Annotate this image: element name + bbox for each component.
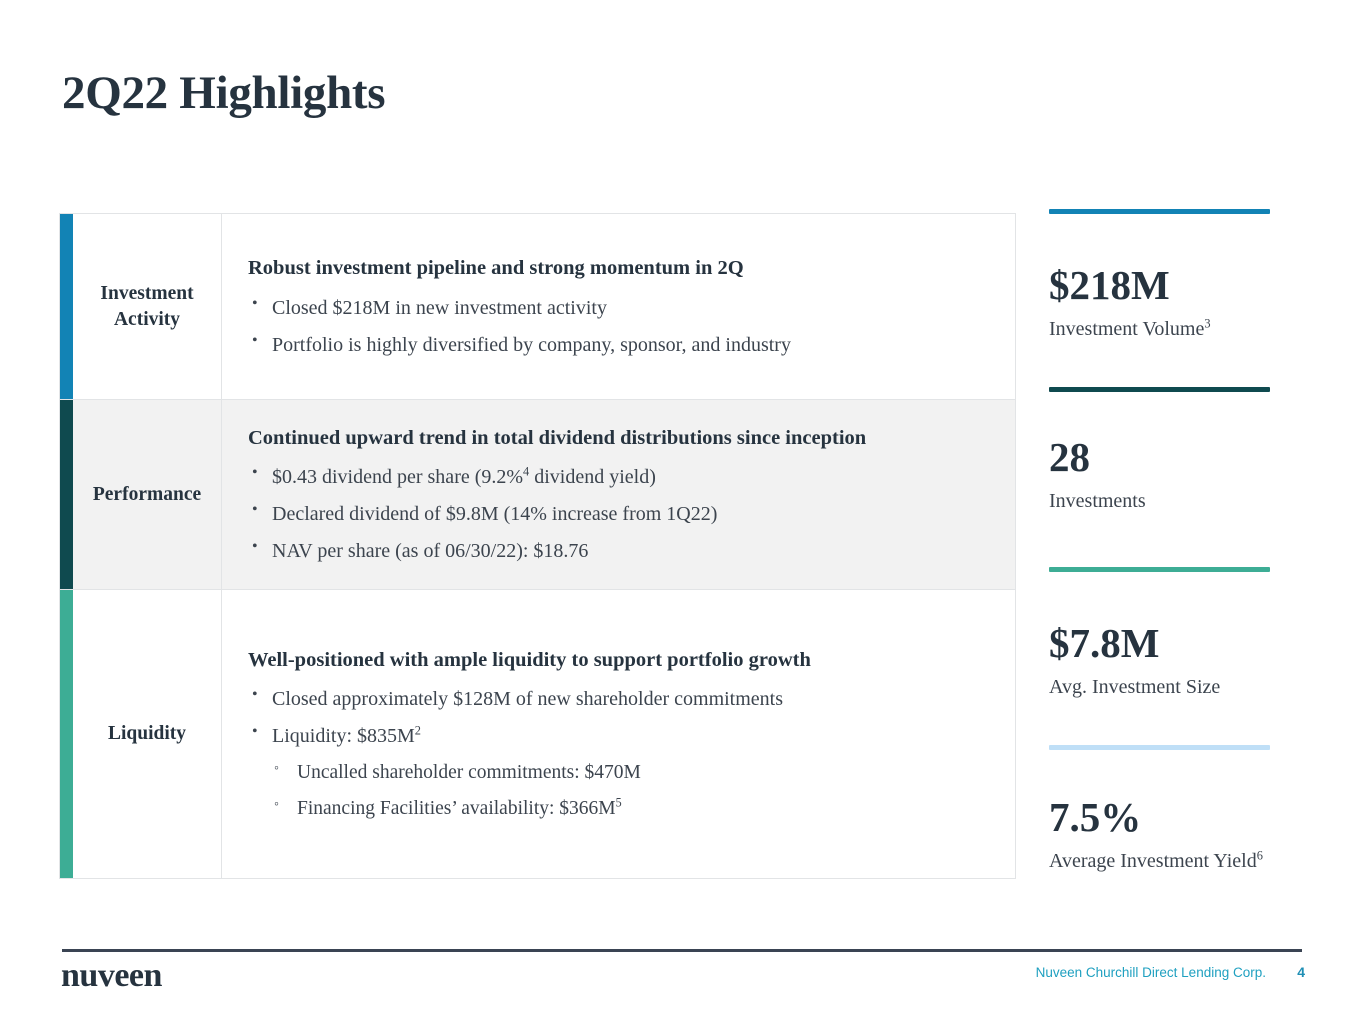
kpi-avg-investment-size: $7.8M Avg. Investment Size: [1049, 567, 1309, 745]
list-item: Financing Facilities’ availability: $366…: [272, 796, 991, 821]
row-accent-bar-investment-activity: [60, 214, 73, 399]
list-item: Declared dividend of $9.8M (14% increase…: [248, 501, 991, 527]
sub-bullet-text: Financing Facilities’ availability: $366…: [297, 798, 616, 819]
bullet-text: Portfolio is highly diversified by compa…: [272, 334, 791, 356]
sub-bullet-list: Uncalled shareholder commitments: $470M …: [272, 760, 991, 822]
page-number: 4: [1297, 964, 1305, 980]
bullet-text: Declared dividend of $9.8M (14% increase…: [272, 503, 717, 525]
kpi-value: $7.8M: [1049, 623, 1309, 664]
kpi-investment-volume: $218M Investment Volume3: [1049, 209, 1309, 387]
list-item: Uncalled shareholder commitments: $470M: [272, 760, 991, 785]
row-heading: Continued upward trend in total dividend…: [248, 425, 948, 451]
row-heading: Well-positioned with ample liquidity to …: [248, 647, 948, 673]
list-item: Liquidity: $835M2 Uncalled shareholder c…: [248, 723, 991, 822]
footnote-marker: 5: [616, 796, 622, 810]
kpi-rule: [1049, 567, 1270, 572]
kpi-label-text: Investments: [1049, 490, 1146, 512]
kpi-panel: $218M Investment Volume3 28 Investments …: [1049, 209, 1309, 873]
kpi-investments: 28 Investments: [1049, 387, 1309, 567]
table-row: Liquidity Well-positioned with ample liq…: [60, 590, 1015, 878]
nuveen-logo: nuveen: [61, 957, 162, 994]
footer-divider: [62, 949, 1302, 952]
list-item: $0.43 dividend per share (9.2%4 dividend…: [248, 464, 991, 490]
kpi-label-text: Average Investment Yield: [1049, 850, 1257, 872]
bullet-text: Closed $218M in new investment activity: [272, 297, 607, 319]
list-item: Closed $218M in new investment activity: [248, 295, 991, 321]
kpi-rule: [1049, 209, 1270, 214]
list-item: Closed approximately $128M of new shareh…: [248, 686, 991, 712]
bullet-text: Closed approximately $128M of new shareh…: [272, 688, 783, 710]
table-row: Investment Activity Robust investment pi…: [60, 214, 1015, 400]
bullet-text: Liquidity: $835M: [272, 725, 415, 747]
kpi-value: 7.5%: [1049, 797, 1309, 838]
row-body-performance: Continued upward trend in total dividend…: [222, 400, 1015, 589]
kpi-rule: [1049, 387, 1270, 392]
kpi-label-text: Investment Volume: [1049, 318, 1204, 340]
kpi-label: Investment Volume3: [1049, 317, 1309, 341]
row-body-investment-activity: Robust investment pipeline and strong mo…: [222, 214, 1015, 399]
footer-company-name: Nuveen Churchill Direct Lending Corp.: [1036, 965, 1266, 980]
kpi-label: Investments: [1049, 489, 1309, 513]
bullet-list: Closed $218M in new investment activity …: [248, 295, 991, 358]
bullet-text-after: dividend yield): [529, 466, 656, 488]
bullet-list: Closed approximately $128M of new shareh…: [248, 686, 991, 822]
kpi-value: 28: [1049, 437, 1309, 478]
highlights-table: Investment Activity Robust investment pi…: [59, 213, 1016, 879]
row-label-liquidity: Liquidity: [73, 590, 222, 878]
kpi-label: Avg. Investment Size: [1049, 675, 1309, 699]
list-item: Portfolio is highly diversified by compa…: [248, 332, 991, 358]
kpi-label-text: Avg. Investment Size: [1049, 676, 1220, 698]
footnote-marker: 6: [1257, 848, 1263, 862]
kpi-rule: [1049, 745, 1270, 750]
kpi-value: $218M: [1049, 265, 1309, 306]
table-row: Performance Continued upward trend in to…: [60, 400, 1015, 590]
bullet-text: NAV per share (as of 06/30/22): $18.76: [272, 540, 588, 562]
kpi-label: Average Investment Yield6: [1049, 849, 1309, 873]
kpi-average-investment-yield: 7.5% Average Investment Yield6: [1049, 745, 1309, 873]
footnote-marker: 2: [415, 723, 421, 737]
row-label-investment-activity: Investment Activity: [73, 214, 222, 399]
bullet-list: $0.43 dividend per share (9.2%4 dividend…: [248, 464, 991, 564]
row-label-performance: Performance: [73, 400, 222, 589]
row-accent-bar-liquidity: [60, 590, 73, 878]
page-title: 2Q22 Highlights: [62, 68, 385, 120]
row-accent-bar-performance: [60, 400, 73, 589]
footnote-marker: 3: [1204, 316, 1210, 330]
list-item: NAV per share (as of 06/30/22): $18.76: [248, 538, 991, 564]
sub-bullet-text: Uncalled shareholder commitments: $470M: [297, 762, 641, 783]
bullet-text: $0.43 dividend per share (9.2%: [272, 466, 523, 488]
row-heading: Robust investment pipeline and strong mo…: [248, 255, 948, 281]
row-body-liquidity: Well-positioned with ample liquidity to …: [222, 590, 1015, 878]
